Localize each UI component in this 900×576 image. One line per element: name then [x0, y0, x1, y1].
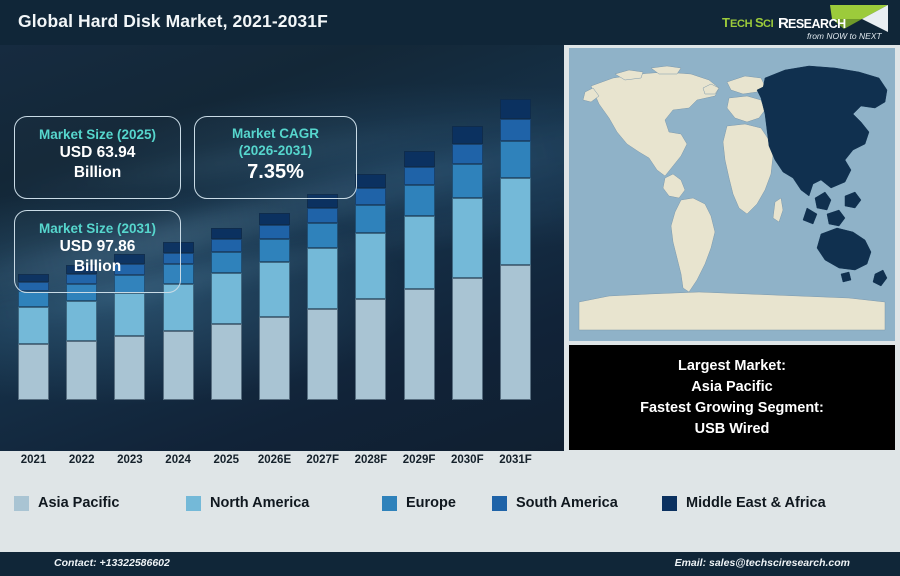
- bar-2028F: [355, 174, 386, 400]
- footer-contact: Contact: +13322586602: [54, 557, 170, 569]
- legend-item-asia-pacific: Asia Pacific: [14, 495, 119, 511]
- bar-segment-middle-east-africa: [452, 126, 483, 144]
- x-axis-label-2031F: 2031F: [486, 454, 546, 466]
- legend-label: Asia Pacific: [38, 495, 119, 511]
- legend-label: Europe: [406, 495, 456, 511]
- svg-text:ECH: ECH: [730, 18, 753, 30]
- bar-segment-south-america: [500, 119, 531, 141]
- bar-segment-south-america: [404, 167, 435, 185]
- stat-card-market-size-2025: Market Size (2025) USD 63.94 Billion: [14, 116, 181, 199]
- bar-segment-south-america: [307, 208, 338, 223]
- callout-line-4: USB Wired: [569, 419, 895, 440]
- footer-email: Email: sales@techsciresearch.com: [675, 557, 850, 569]
- bar-segment-asia-pacific: [66, 341, 97, 400]
- callout-line-3: Fastest Growing Segment:: [569, 398, 895, 419]
- svg-text:ESEARCH: ESEARCH: [788, 17, 846, 31]
- bar-segment-north-america: [66, 301, 97, 341]
- stat-value: 7.35%: [195, 159, 356, 185]
- callout-line-2: Asia Pacific: [569, 377, 895, 398]
- stat-card-market-cagr: Market CAGR (2026-2031) 7.35%: [194, 116, 357, 199]
- bar-segment-asia-pacific: [404, 289, 435, 400]
- bar-segment-north-america: [114, 293, 145, 336]
- stat-label: Market CAGR: [195, 125, 356, 142]
- stat-label: Market Size (2031): [15, 220, 180, 237]
- stat-value: USD 97.86: [15, 237, 180, 257]
- stat-card-market-size-2031: Market Size (2031) USD 97.86 Billion: [14, 210, 181, 293]
- legend-label: North America: [210, 495, 309, 511]
- techsci-research-logo: T ECH S CI R ESEARCH from NOW to NEXT: [712, 2, 892, 44]
- bar-2027F: [307, 194, 338, 400]
- legend-swatch: [186, 496, 201, 511]
- legend-swatch: [14, 496, 29, 511]
- bar-segment-europe: [452, 164, 483, 198]
- bar-segment-europe: [259, 239, 290, 262]
- callout-line-1: Largest Market:: [569, 356, 895, 377]
- bar-segment-middle-east-africa: [211, 228, 242, 239]
- bar-segment-asia-pacific: [452, 278, 483, 400]
- bar-segment-middle-east-africa: [355, 174, 386, 188]
- legend-item-north-america: North America: [186, 495, 309, 511]
- legend-item-middle-east-africa: Middle East & Africa: [662, 495, 826, 511]
- legend-swatch: [382, 496, 397, 511]
- bar-2030F: [452, 126, 483, 400]
- stat-label: Market Size (2025): [15, 126, 180, 143]
- bar-segment-north-america: [307, 248, 338, 308]
- bar-segment-asia-pacific: [307, 309, 338, 400]
- bar-segment-north-america: [452, 198, 483, 278]
- bar-segment-asia-pacific: [163, 331, 194, 400]
- bar-segment-asia-pacific: [18, 344, 49, 400]
- bar-segment-middle-east-africa: [259, 213, 290, 225]
- legend-item-europe: Europe: [382, 495, 456, 511]
- bar-segment-north-america: [18, 307, 49, 344]
- world-map: [569, 48, 895, 341]
- chart-legend: Asia PacificNorth AmericaEuropeSouth Ame…: [0, 476, 900, 536]
- stat-unit: Billion: [15, 163, 180, 183]
- bar-segment-asia-pacific: [114, 336, 145, 400]
- bar-segment-europe: [404, 185, 435, 216]
- bar-segment-asia-pacific: [355, 299, 386, 400]
- legend-label: Middle East & Africa: [686, 495, 826, 511]
- bar-2029F: [404, 151, 435, 400]
- bar-2026E: [259, 213, 290, 400]
- bar-2031F: [500, 99, 531, 400]
- bar-segment-north-america: [259, 262, 290, 317]
- bar-segment-north-america: [500, 178, 531, 266]
- legend-item-south-america: South America: [492, 495, 618, 511]
- bar-segment-north-america: [404, 216, 435, 289]
- chart-panel: Market Size (2025) USD 63.94 Billion Mar…: [0, 45, 564, 451]
- stat-unit: Billion: [15, 257, 180, 277]
- header-bar: Global Hard Disk Market, 2021-2031F T EC…: [0, 0, 900, 45]
- footer-bar: Contact: +13322586602 Email: sales@techs…: [0, 552, 900, 576]
- bar-segment-asia-pacific: [259, 317, 290, 400]
- legend-swatch: [662, 496, 677, 511]
- infographic-root: Global Hard Disk Market, 2021-2031F T EC…: [0, 0, 900, 576]
- legend-swatch: [492, 496, 507, 511]
- bar-segment-europe: [211, 252, 242, 273]
- bar-segment-south-america: [211, 239, 242, 252]
- bar-segment-asia-pacific: [500, 265, 531, 400]
- chart-x-axis: 202120222023202420252026E2027F2028F2029F…: [0, 451, 564, 476]
- bar-segment-north-america: [211, 273, 242, 324]
- bar-segment-europe: [355, 205, 386, 233]
- svg-text:T: T: [722, 15, 730, 30]
- bar-segment-europe: [18, 291, 49, 307]
- bar-segment-north-america: [355, 233, 386, 299]
- stat-value: USD 63.94: [15, 143, 180, 163]
- bar-segment-middle-east-africa: [404, 151, 435, 167]
- bar-segment-south-america: [452, 144, 483, 164]
- callout-box: Largest Market: Asia Pacific Fastest Gro…: [569, 345, 895, 450]
- bar-segment-asia-pacific: [211, 324, 242, 400]
- bar-segment-europe: [307, 223, 338, 249]
- svg-text:CI: CI: [763, 18, 774, 30]
- stat-sublabel: (2026-2031): [195, 142, 356, 159]
- svg-text:from NOW to NEXT: from NOW to NEXT: [807, 31, 882, 41]
- bar-segment-europe: [500, 141, 531, 178]
- legend-label: South America: [516, 495, 618, 511]
- page-title: Global Hard Disk Market, 2021-2031F: [18, 11, 328, 32]
- bar-segment-middle-east-africa: [500, 99, 531, 118]
- bar-segment-south-america: [259, 225, 290, 239]
- bar-2025: [211, 228, 242, 400]
- bar-segment-south-america: [355, 188, 386, 205]
